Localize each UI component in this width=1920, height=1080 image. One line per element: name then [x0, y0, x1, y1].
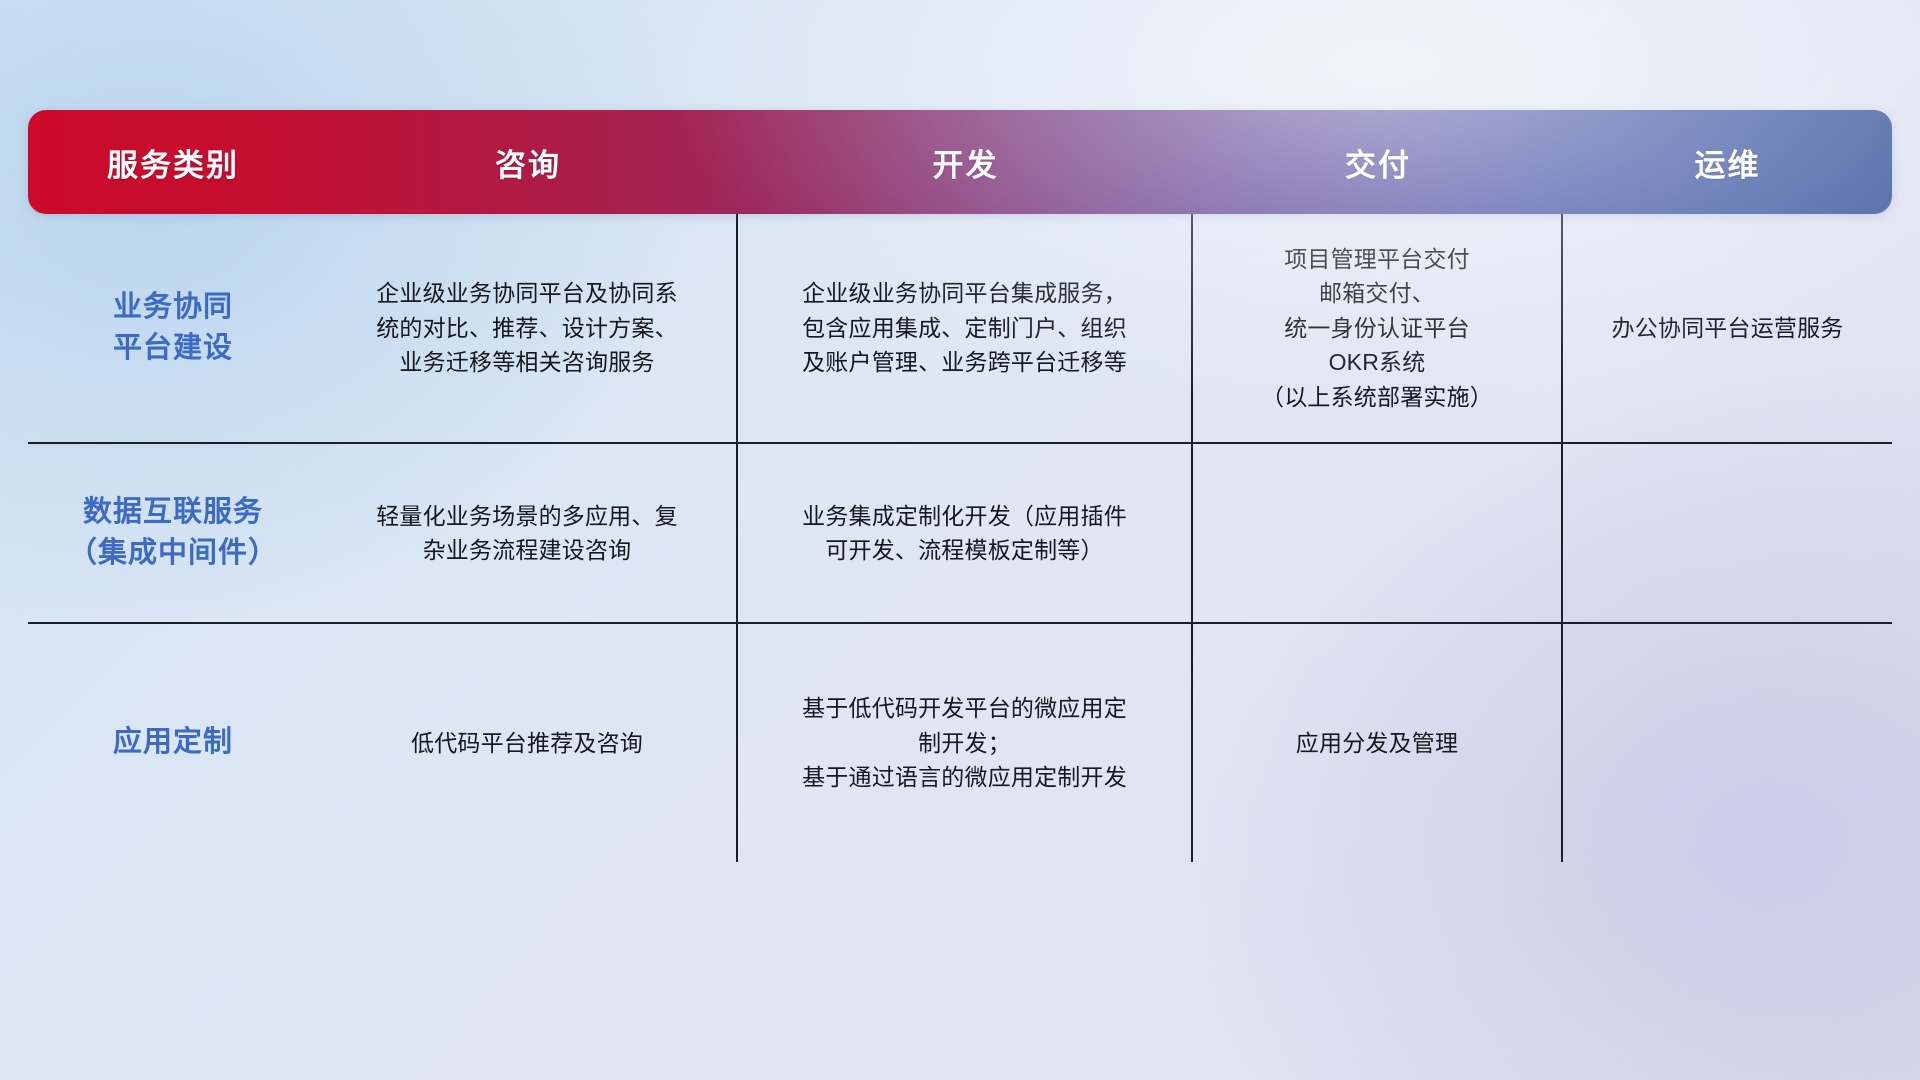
table-header-row: 服务类别 咨询 开发 交付 运维	[28, 110, 1892, 214]
cell-category: 应用定制	[28, 624, 318, 862]
cell-text: 办公协同平台运营服务	[1612, 311, 1844, 346]
column-header-development: 开发	[738, 110, 1193, 214]
cell-text: 基于低代码开发平台的微应用定 制开发； 基于通过语言的微应用定制开发	[802, 691, 1127, 795]
slide-canvas: 服务类别 咨询 开发 交付 运维 业务协同 平台建设	[0, 0, 1920, 1080]
cell-delivery: 项目管理平台交付 邮箱交付、 统一身份认证平台 OKR系统 （以上系统部署实施）	[1193, 214, 1563, 442]
table-body: 业务协同 平台建设 企业级业务协同平台及协同系 统的对比、推荐、设计方案、 业务…	[28, 214, 1892, 862]
cell-development: 业务集成定制化开发（应用插件 可开发、流程模板定制等）	[738, 444, 1193, 622]
service-matrix-table: 服务类别 咨询 开发 交付 运维 业务协同 平台建设	[28, 110, 1892, 862]
column-header-operations: 运维	[1563, 110, 1892, 214]
cell-delivery: 应用分发及管理	[1193, 624, 1563, 862]
category-label: 应用定制	[113, 722, 233, 763]
cell-text: 低代码平台推荐及咨询	[411, 726, 643, 761]
cell-consulting: 企业级业务协同平台及协同系 统的对比、推荐、设计方案、 业务迁移等相关咨询服务	[318, 214, 738, 442]
column-header-development-label: 开发	[933, 140, 999, 185]
cell-operations	[1563, 444, 1892, 622]
column-header-consulting-label: 咨询	[495, 140, 561, 185]
cell-text: 轻量化业务场景的多应用、复 杂业务流程建设咨询	[376, 499, 678, 568]
column-header-delivery: 交付	[1193, 110, 1563, 214]
column-header-category: 服务类别	[28, 110, 318, 214]
cell-consulting: 低代码平台推荐及咨询	[318, 624, 738, 862]
table-row: 应用定制 低代码平台推荐及咨询 基于低代码开发平台的微应用定 制开发； 基于通过…	[28, 624, 1892, 862]
cell-text: 应用分发及管理	[1296, 726, 1458, 761]
cell-operations: 办公协同平台运营服务	[1563, 214, 1892, 442]
cell-consulting: 轻量化业务场景的多应用、复 杂业务流程建设咨询	[318, 444, 738, 622]
cell-text: 业务集成定制化开发（应用插件 可开发、流程模板定制等）	[802, 499, 1127, 568]
column-header-category-label: 服务类别	[107, 140, 239, 185]
category-label: 数据互联服务 （集成中间件）	[68, 492, 278, 574]
cell-text: 企业级业务协同平台及协同系 统的对比、推荐、设计方案、 业务迁移等相关咨询服务	[376, 276, 678, 380]
cell-delivery	[1193, 444, 1563, 622]
cell-development: 基于低代码开发平台的微应用定 制开发； 基于通过语言的微应用定制开发	[738, 624, 1193, 862]
cell-operations	[1563, 624, 1892, 862]
cell-category: 数据互联服务 （集成中间件）	[28, 444, 318, 622]
table-row: 业务协同 平台建设 企业级业务协同平台及协同系 统的对比、推荐、设计方案、 业务…	[28, 214, 1892, 444]
cell-text: 项目管理平台交付 邮箱交付、 统一身份认证平台 OKR系统 （以上系统部署实施）	[1261, 242, 1493, 415]
column-header-delivery-label: 交付	[1345, 140, 1411, 185]
category-label: 业务协同 平台建设	[113, 287, 233, 369]
cell-category: 业务协同 平台建设	[28, 214, 318, 442]
column-header-operations-label: 运维	[1695, 140, 1761, 185]
cell-development: 企业级业务协同平台集成服务， 包含应用集成、定制门户、组织 及账户管理、业务跨平…	[738, 214, 1193, 442]
column-header-consulting: 咨询	[318, 110, 738, 214]
table-row: 数据互联服务 （集成中间件） 轻量化业务场景的多应用、复 杂业务流程建设咨询 业…	[28, 444, 1892, 624]
cell-text: 企业级业务协同平台集成服务， 包含应用集成、定制门户、组织 及账户管理、业务跨平…	[802, 276, 1127, 380]
